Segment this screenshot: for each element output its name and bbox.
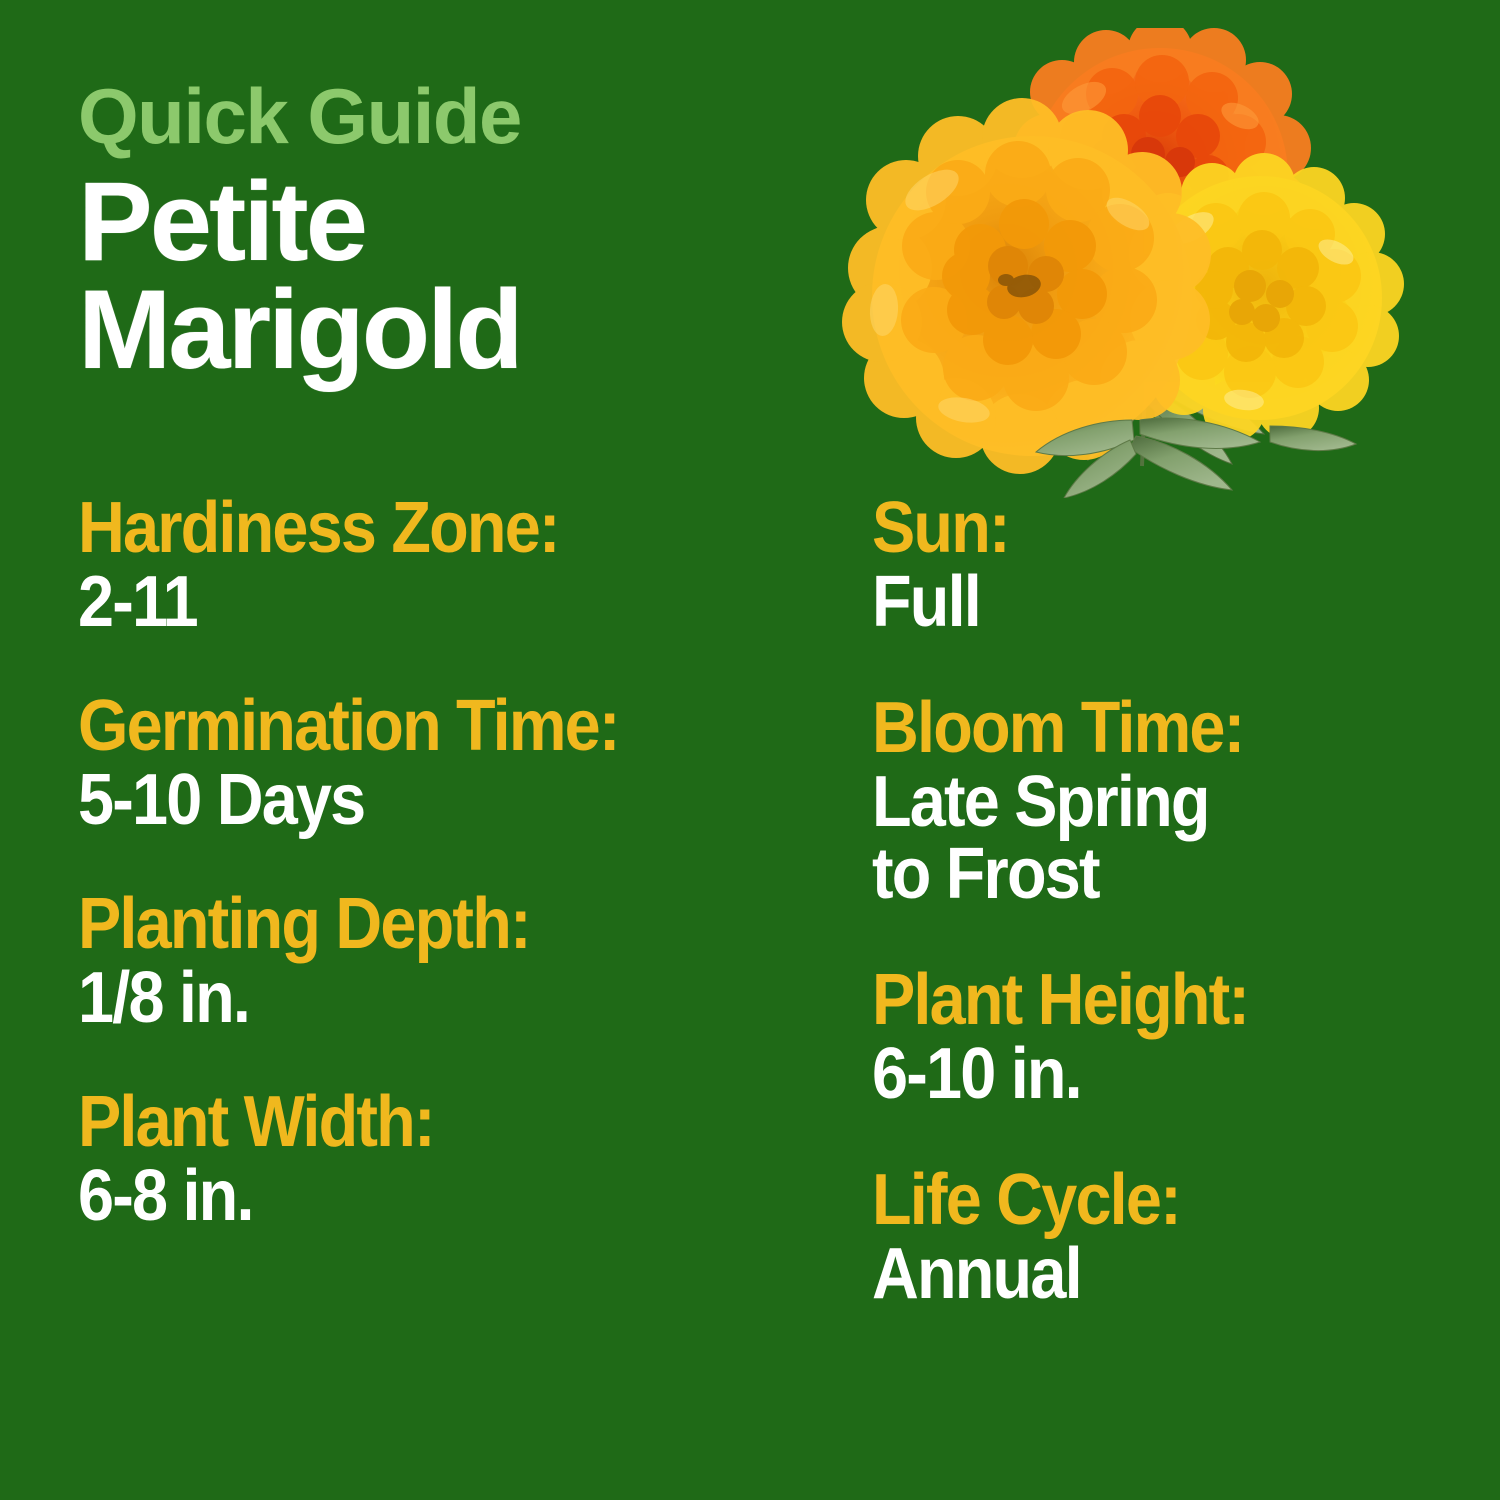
marigold-flowers-image — [840, 28, 1420, 498]
page-title-line-2: Marigold — [78, 276, 798, 384]
fact-plant-width: Plant Width: 6-8 in. — [78, 1086, 778, 1232]
fact-planting-depth: Planting Depth: 1/8 in. — [78, 888, 778, 1034]
quick-guide-card: Quick Guide Petite Marigold — [0, 0, 1500, 1500]
fact-label: Life Cycle: — [872, 1164, 1500, 1236]
fact-bloom-time: Bloom Time: Late Spring to Frost — [872, 692, 1500, 910]
facts-column-left: Hardiness Zone: 2-11 Germination Time: 5… — [78, 492, 778, 1232]
facts-column-right: Sun: Full Bloom Time: Late Spring to Fro… — [872, 492, 1500, 1310]
page-title: Petite Marigold — [78, 168, 798, 383]
fact-label: Plant Width: — [78, 1086, 708, 1158]
fact-label: Hardiness Zone: — [78, 492, 708, 564]
fact-label: Plant Height: — [872, 964, 1500, 1036]
fact-hardiness-zone: Hardiness Zone: 2-11 — [78, 492, 778, 638]
page-title-line-1: Petite — [78, 168, 798, 276]
fact-plant-height: Plant Height: 6-10 in. — [872, 964, 1500, 1110]
fact-value: Annual — [872, 1238, 1500, 1310]
fact-value: 6-10 in. — [872, 1038, 1500, 1110]
header-block: Quick Guide Petite Marigold — [78, 78, 798, 383]
fact-label: Planting Depth: — [78, 888, 708, 960]
fact-sun: Sun: Full — [872, 492, 1500, 638]
quick-guide-eyebrow: Quick Guide — [78, 78, 798, 154]
fact-label: Bloom Time: — [872, 692, 1500, 764]
fact-life-cycle: Life Cycle: Annual — [872, 1164, 1500, 1310]
fact-value: 2-11 — [78, 566, 708, 638]
fact-value: 6-8 in. — [78, 1160, 708, 1232]
fact-value: 1/8 in. — [78, 962, 708, 1034]
fact-value: Late Spring to Frost — [872, 766, 1500, 910]
fact-value: 5-10 Days — [78, 764, 708, 836]
fact-germination-time: Germination Time: 5-10 Days — [78, 690, 778, 836]
fact-value: Full — [872, 566, 1500, 638]
fact-label: Germination Time: — [78, 690, 708, 762]
fact-label: Sun: — [872, 492, 1500, 564]
